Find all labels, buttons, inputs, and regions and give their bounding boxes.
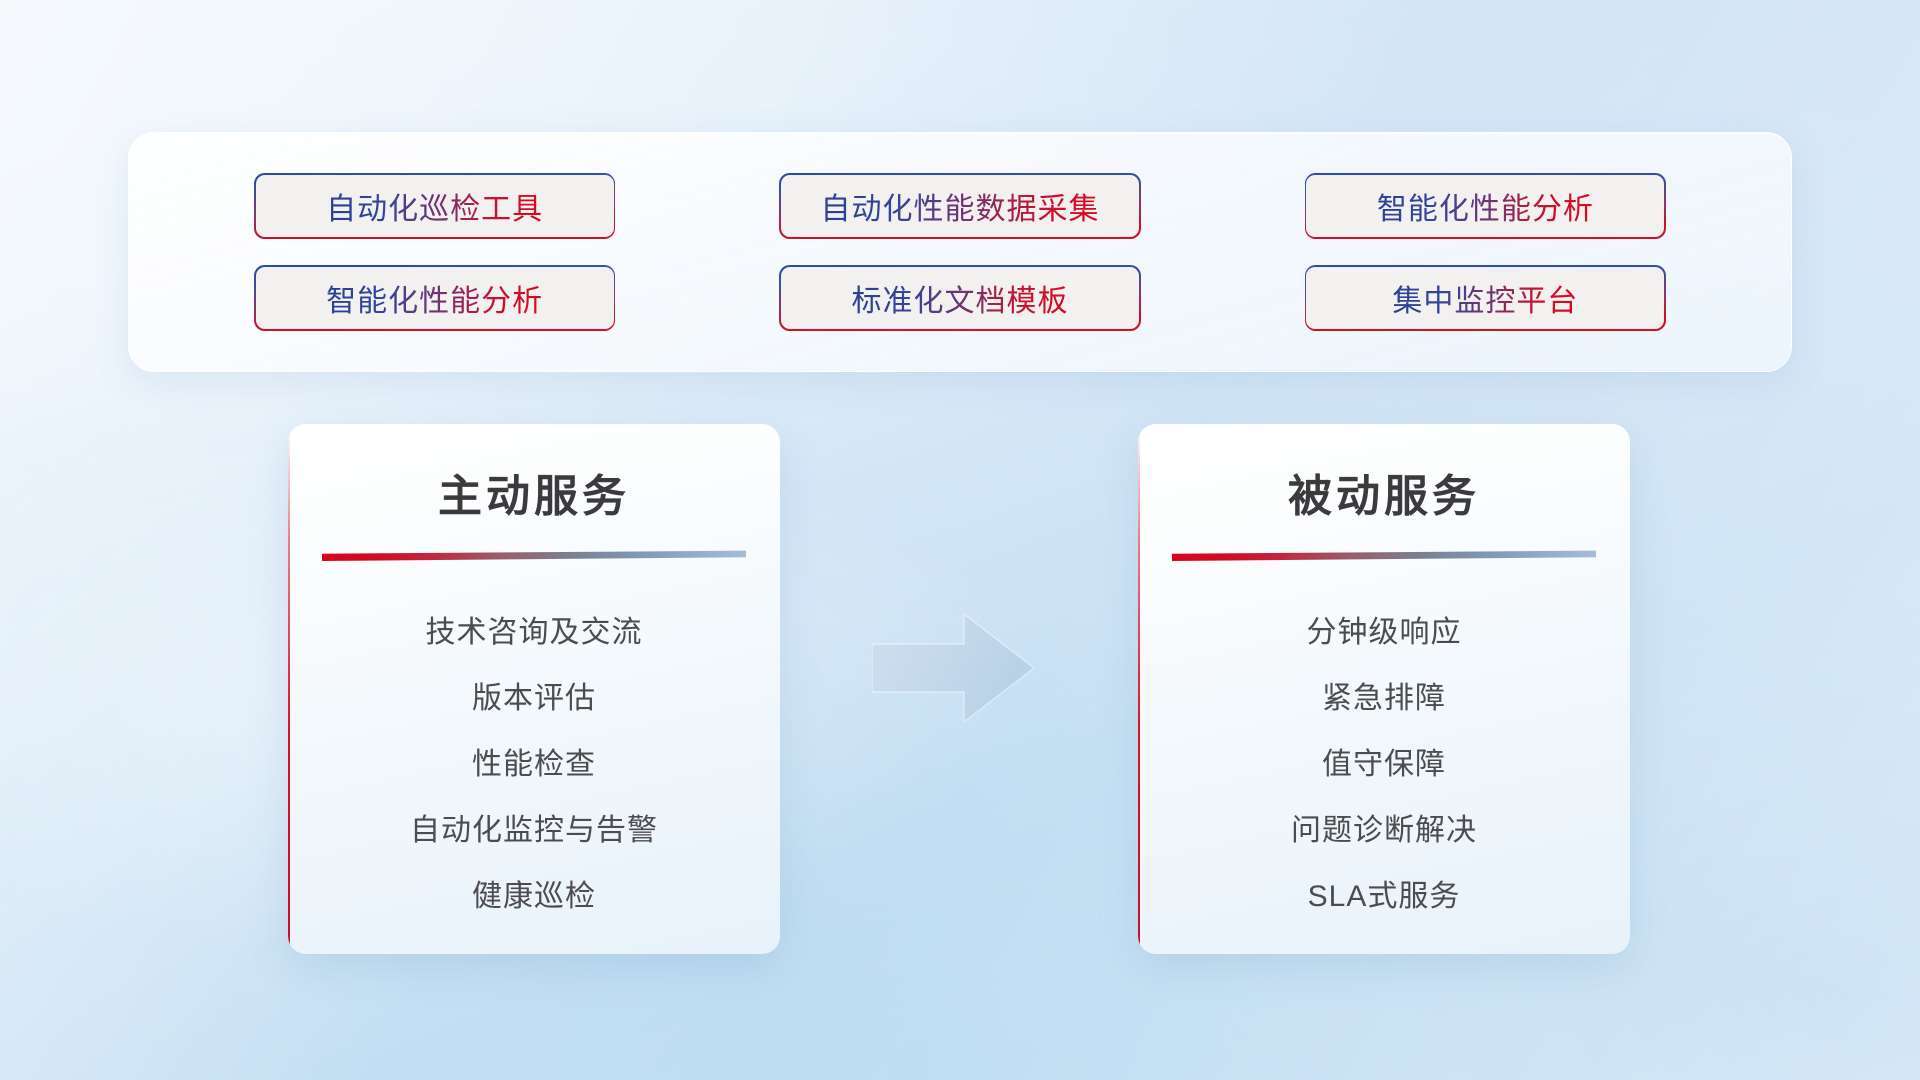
capability-tag-0[interactable]: 自动化巡检工具 <box>256 175 614 237</box>
service-item: 版本评估 <box>472 673 596 717</box>
card-title: 主动服务 <box>288 460 780 524</box>
capability-tag-label: 自动化巡检工具 <box>326 184 543 228</box>
service-item: 性能检查 <box>472 739 596 783</box>
capability-tags-panel: 自动化巡检工具 自动化性能数据采集 智能化性能分析 智能化性能分析 标准化文档模… <box>128 132 1792 372</box>
arrow-right-icon <box>872 614 1034 722</box>
card-divider <box>1172 550 1596 561</box>
service-card-reactive: 被动服务 分钟级响应 紧急排障 值守保障 问题诊断解决 SLA式服务 <box>1138 424 1630 954</box>
capability-tag-3[interactable]: 智能化性能分析 <box>256 267 614 329</box>
service-item-list: 分钟级响应 紧急排障 值守保障 问题诊断解决 SLA式服务 <box>1138 607 1630 915</box>
service-item: 自动化监控与告警 <box>410 805 658 849</box>
capability-tag-label: 标准化文档模板 <box>851 276 1068 320</box>
service-item: 值守保障 <box>1322 739 1446 783</box>
capability-tag-4[interactable]: 标准化文档模板 <box>781 267 1139 329</box>
service-item: 技术咨询及交流 <box>426 607 643 651</box>
capability-tag-label: 智能化性能分析 <box>1377 184 1594 228</box>
capability-tag-2[interactable]: 智能化性能分析 <box>1306 175 1664 237</box>
service-item: 分钟级响应 <box>1307 607 1462 651</box>
card-divider <box>322 550 746 561</box>
service-item: 紧急排障 <box>1322 673 1446 717</box>
capability-tag-5[interactable]: 集中监控平台 <box>1306 267 1664 329</box>
capability-tag-label: 自动化性能数据采集 <box>820 184 1099 228</box>
service-item: 问题诊断解决 <box>1291 805 1477 849</box>
service-item: SLA式服务 <box>1308 871 1461 915</box>
capability-tag-label: 智能化性能分析 <box>326 276 543 320</box>
capability-tag-grid: 自动化巡检工具 自动化性能数据采集 智能化性能分析 智能化性能分析 标准化文档模… <box>129 133 1791 371</box>
capability-tag-label: 集中监控平台 <box>1392 276 1578 320</box>
capability-tag-1[interactable]: 自动化性能数据采集 <box>781 175 1139 237</box>
service-item-list: 技术咨询及交流 版本评估 性能检查 自动化监控与告警 健康巡检 <box>288 607 780 915</box>
service-item: 健康巡检 <box>472 871 596 915</box>
card-title: 被动服务 <box>1138 460 1630 524</box>
service-card-proactive: 主动服务 技术咨询及交流 版本评估 性能检查 自动化监控与告警 健康巡检 <box>288 424 780 954</box>
